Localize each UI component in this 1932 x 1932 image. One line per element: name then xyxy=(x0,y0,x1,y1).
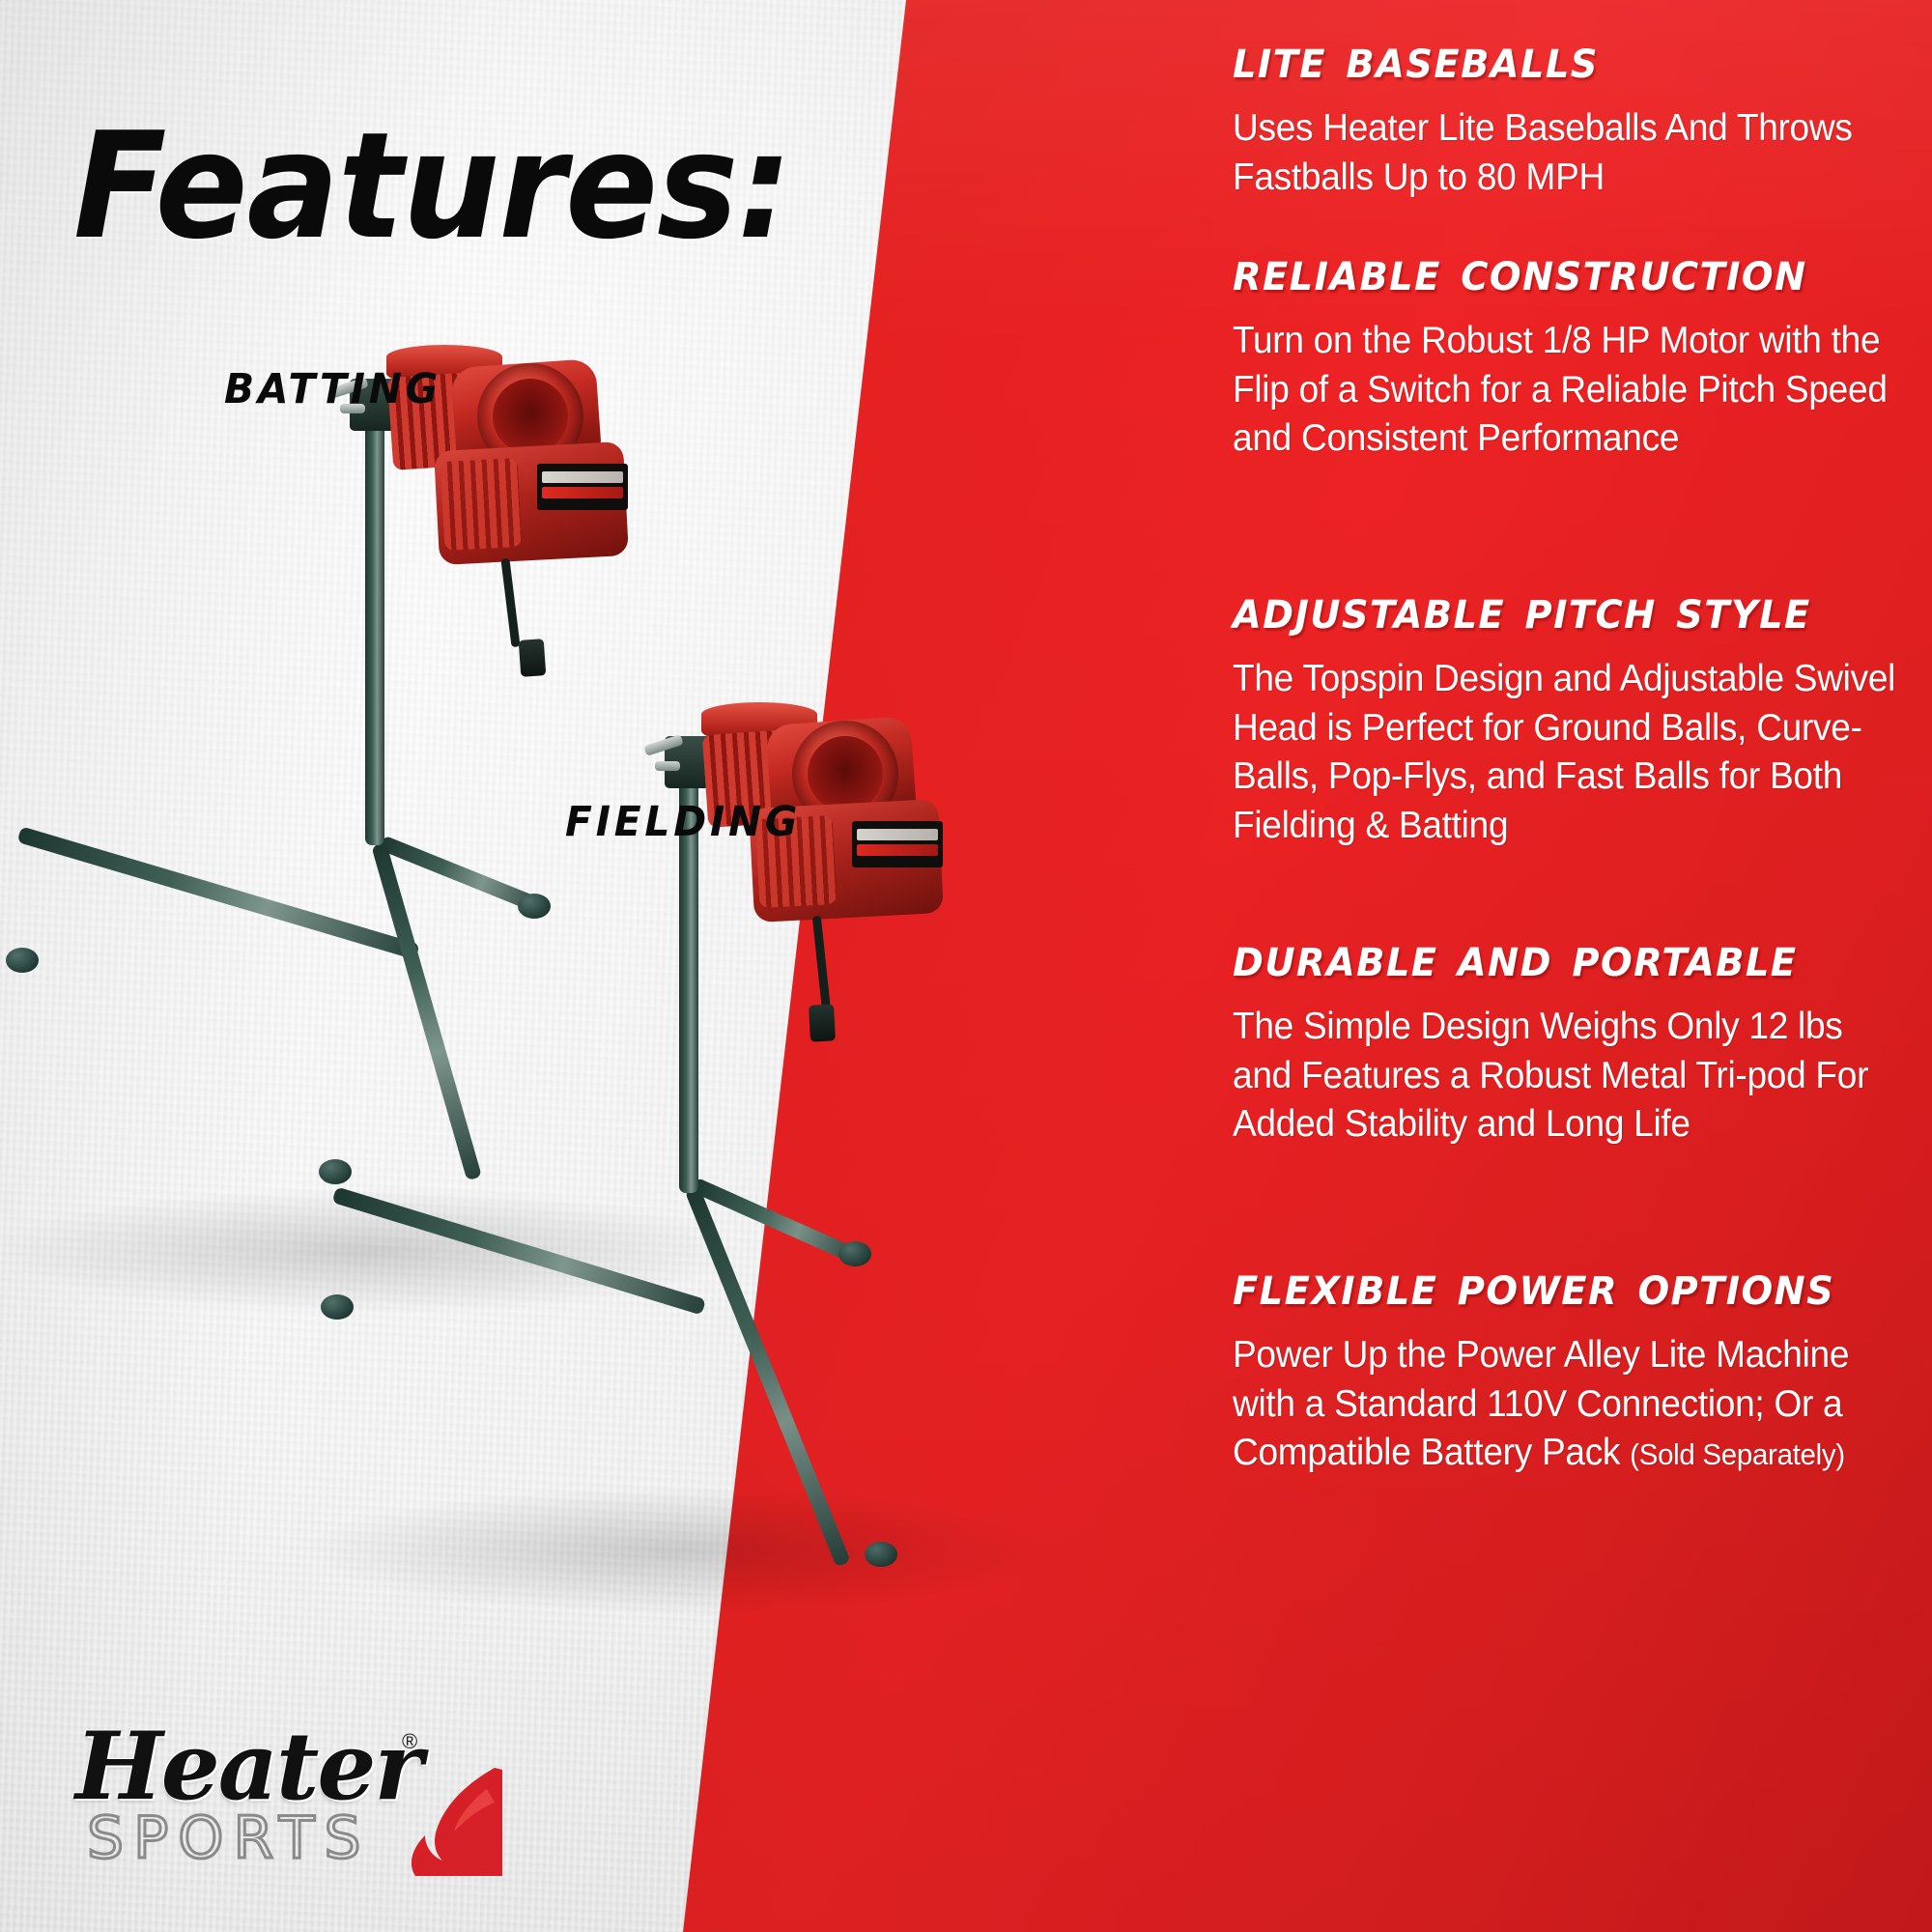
product-label-plate-2 xyxy=(852,821,943,867)
callout-label-fielding: FIELDING xyxy=(565,798,801,846)
product-label-plate xyxy=(537,464,628,510)
heater-sports-logo: Heater ® SPORTS xyxy=(75,1712,481,1876)
clamp-knob-2 xyxy=(655,761,680,771)
features-infographic: Features: xyxy=(0,0,1932,1932)
feature-title: Adjustable Pitch Style xyxy=(1233,580,1904,641)
label-line-2-2 xyxy=(857,844,939,856)
feature-flexible-power-options: Flexible Power Options Power Up the Powe… xyxy=(1233,1256,1932,1478)
registered-trademark-icon: ® xyxy=(402,1729,417,1754)
feature-title: Reliable Construction xyxy=(1233,241,1904,303)
tripod-foot-right-2 xyxy=(838,1241,871,1266)
feature-title: Lite Baseballs xyxy=(1233,29,1904,91)
machine-shadow-2 xyxy=(309,1488,1043,1613)
power-plug-2 xyxy=(809,1004,836,1041)
ball-exit-throat-inner-2 xyxy=(808,736,883,811)
label-line-2 xyxy=(542,487,624,498)
flame-icon xyxy=(394,1764,502,1876)
power-plug xyxy=(519,639,547,677)
feature-durable-and-portable: Durable And Portable The Simple Design W… xyxy=(1233,927,1932,1150)
ball-exit-throat-inner xyxy=(493,379,568,454)
feature-body: Turn on the Robust 1/8 HP Motor with the… xyxy=(1233,317,1897,464)
feature-reliable-construction: Reliable Construction Turn on the Robust… xyxy=(1233,241,1932,464)
tripod-foot-left-2 xyxy=(321,1294,354,1320)
page-title: Features: xyxy=(73,100,791,271)
feature-lite-baseballs: Lite Baseballs Uses Heater Lite Baseball… xyxy=(1233,29,1932,202)
tripod-foot-front xyxy=(319,1159,352,1184)
tripod-foot-left xyxy=(6,948,39,973)
tripod-center-pole xyxy=(365,406,384,845)
motor-vents xyxy=(440,458,523,551)
feature-title: Durable And Portable xyxy=(1233,927,1904,989)
feature-body: The Topspin Design and Adjustable Swivel… xyxy=(1233,655,1897,851)
tripod-foot-right xyxy=(518,894,551,919)
features-list: Lite Baseballs Uses Heater Lite Baseball… xyxy=(1233,0,1932,1932)
callout-label-batting: BATTING xyxy=(224,365,441,413)
label-line-1-2 xyxy=(857,829,939,840)
feature-title: Flexible Power Options xyxy=(1233,1256,1904,1318)
logo-subtitle: SPORTS xyxy=(87,1804,371,1872)
label-line-1 xyxy=(542,471,624,483)
feature-body-note: (Sold Separately) xyxy=(1630,1437,1845,1471)
feature-body: Power Up the Power Alley Lite Machine wi… xyxy=(1233,1331,1897,1478)
tripod-foot-front-2 xyxy=(865,1542,897,1567)
feature-body: Uses Heater Lite Baseballs And Throws Fa… xyxy=(1233,104,1897,202)
feature-adjustable-pitch-style: Adjustable Pitch Style The Topspin Desig… xyxy=(1233,580,1932,851)
feature-body: The Simple Design Weighs Only 12 lbs and… xyxy=(1233,1003,1897,1150)
